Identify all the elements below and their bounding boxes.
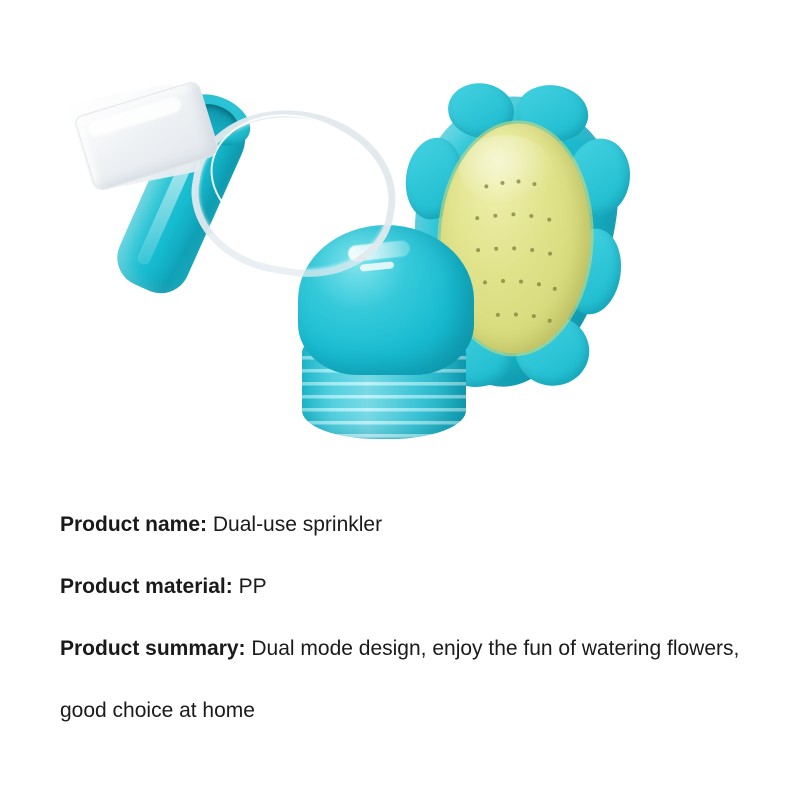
spray-hole: [553, 287, 557, 291]
spray-hole: [494, 247, 498, 251]
spray-hole: [483, 280, 487, 284]
spray-hole: [537, 282, 541, 286]
spray-hole: [511, 212, 515, 216]
spray-hole: [548, 252, 552, 256]
spec-value-product-name: Dual-use sprinkler: [213, 513, 382, 536]
spray-hole: [496, 313, 500, 317]
product-specifications: Product name: Dual-use sprinkler Product…: [60, 494, 760, 742]
product-illustration: [60, 75, 650, 415]
spray-hole: [532, 314, 536, 318]
spec-row-product-name: Product name: Dual-use sprinkler: [60, 494, 760, 556]
face-highlight: [458, 133, 556, 206]
spray-hole: [519, 280, 523, 284]
spray-hole: [547, 218, 551, 222]
spray-hole: [530, 248, 534, 252]
product-image: [0, 0, 800, 470]
spray-hole: [501, 279, 505, 283]
spec-row-product-material: Product material: PP: [60, 556, 760, 618]
spray-hole: [529, 214, 533, 218]
spec-row-product-summary: Product summary: Dual mode design, enjoy…: [60, 618, 760, 742]
spec-label-product-summary: Product summary:: [60, 637, 246, 660]
spray-hole: [476, 248, 480, 252]
spray-hole: [548, 319, 552, 323]
spray-hole: [514, 312, 518, 316]
spec-value-product-material: PP: [239, 575, 267, 598]
spec-label-product-name: Product name:: [60, 513, 207, 536]
spray-hole: [512, 246, 516, 250]
spec-label-product-material: Product material:: [60, 575, 233, 598]
spray-hole: [500, 181, 504, 185]
spray-hole: [475, 216, 479, 220]
spray-hole: [493, 214, 497, 218]
